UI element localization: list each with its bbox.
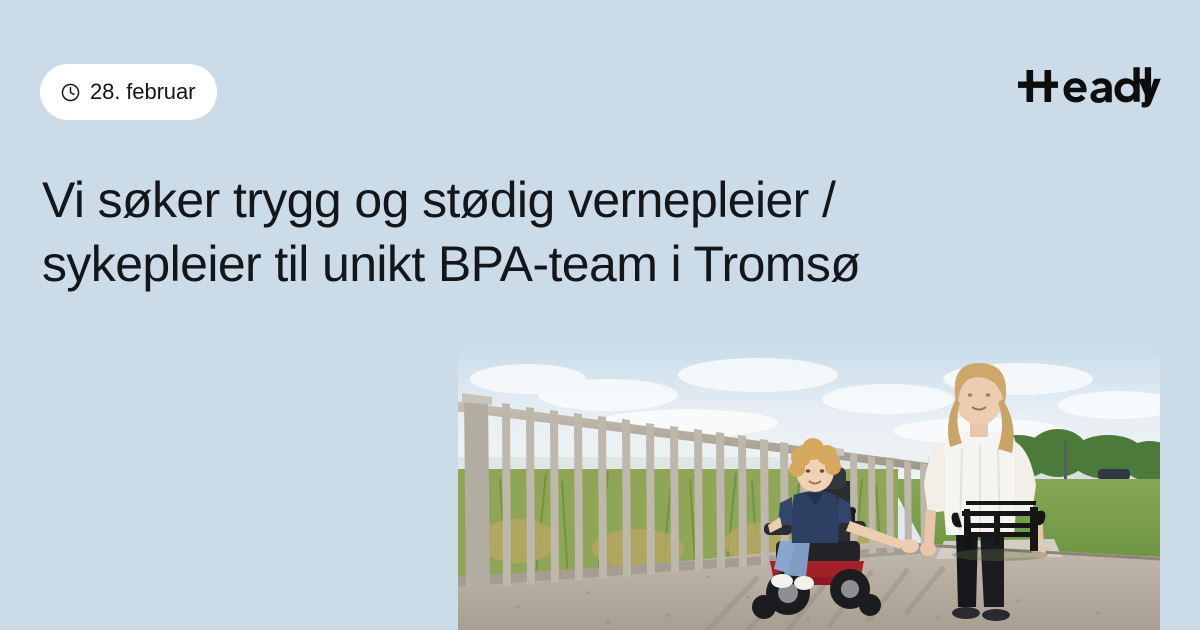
date-label: 28. februar xyxy=(90,79,195,105)
date-badge: 28. februar xyxy=(40,64,217,120)
page-title: Vi søker trygg og stødig vernepleier / s… xyxy=(42,168,1042,296)
article-photo xyxy=(458,345,1160,630)
social-share-card: 28. februar xyxy=(0,0,1200,630)
headly-logo[interactable] xyxy=(1016,64,1162,110)
clock-icon xyxy=(60,82,81,103)
